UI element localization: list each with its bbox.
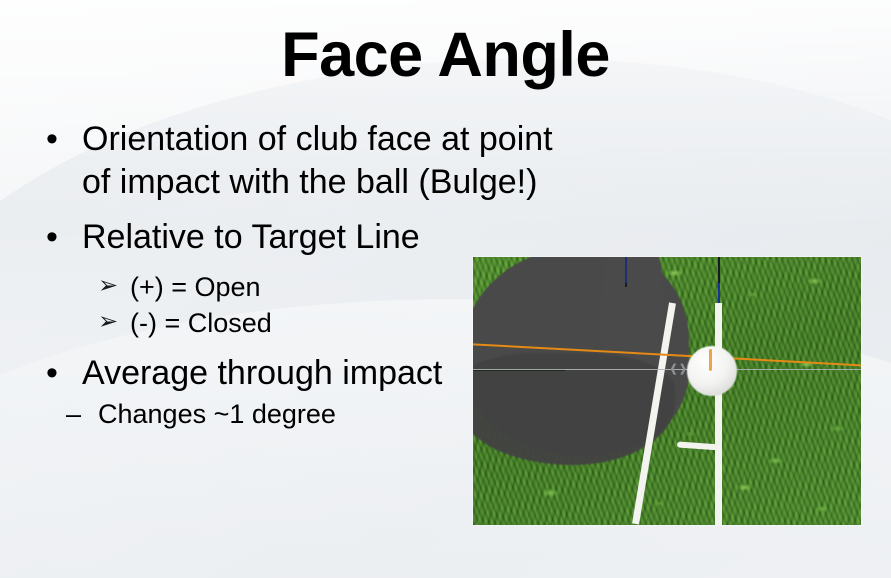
- arrowhead-icon: ➢: [98, 305, 118, 340]
- bullet-dot-icon: •: [46, 352, 58, 395]
- club-face-photo: ❰❱: [473, 257, 861, 525]
- bullet-dot-icon: •: [46, 216, 58, 259]
- bullet-line: Relative to Target Line: [82, 216, 634, 259]
- axis-center-marker-icon: ❰❱: [669, 364, 679, 374]
- bullet-dot-icon: •: [46, 118, 58, 161]
- slide: Face Angle • Orientation of club face at…: [0, 0, 891, 578]
- dash-icon: –: [66, 397, 81, 432]
- page-title: Face Angle: [0, 21, 891, 90]
- sub-bullet-line: Changes ~1 degree: [98, 399, 336, 429]
- sub-bullet-line: (-) = Closed: [130, 308, 272, 338]
- spacer: [34, 206, 634, 216]
- alignment-rod-vertical: [715, 303, 722, 525]
- face-angle-axis-line: [473, 369, 861, 370]
- golf-ball-marking: [709, 349, 712, 371]
- target-line-vertical-blue-top: [718, 283, 720, 305]
- bullet-item-relative-target-line: • Relative to Target Line: [34, 216, 634, 259]
- arrowhead-icon: ➢: [98, 269, 118, 304]
- sub-bullet-line: (+) = Open: [130, 272, 261, 302]
- bullet-line: of impact with the ball (Bulge!): [82, 161, 634, 204]
- bullet-line: Orientation of club face at point: [82, 118, 634, 161]
- target-line-vertical-short-blue: [625, 257, 627, 283]
- golf-ball: [687, 346, 737, 396]
- bullet-item-orientation: • Orientation of club face at point of i…: [34, 118, 634, 204]
